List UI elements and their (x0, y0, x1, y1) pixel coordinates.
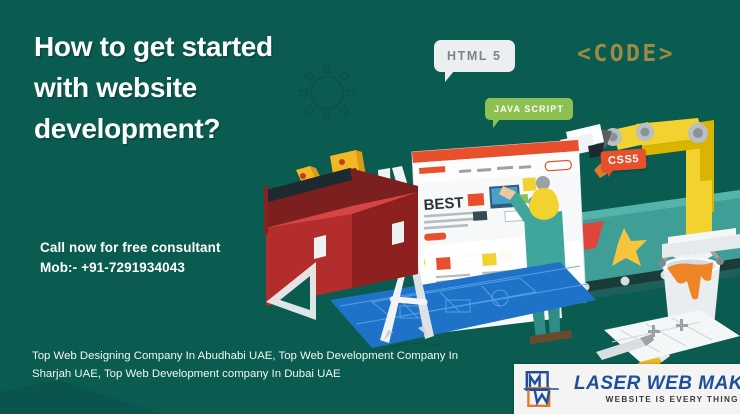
bubble-tail-icon (608, 170, 614, 177)
badge-javascript: JAVA SCRIPT (485, 98, 573, 120)
svg-text:BEST: BEST (423, 194, 464, 214)
badge-javascript-label: JAVA SCRIPT (485, 98, 573, 120)
badge-html5: HTML 5 (434, 40, 515, 72)
badge-css5-label: CSS5 (608, 153, 640, 167)
logo-title: LASER WEB MAKER (574, 374, 740, 393)
badge-html5-label: HTML 5 (434, 40, 515, 72)
promo-banner: BEST (0, 0, 740, 414)
badge-css5: CSS5 (600, 148, 646, 171)
grid-sheet (604, 310, 740, 362)
phone-number[interactable]: Mob:- +91-7291934043 (40, 258, 221, 278)
bubble-tail-icon (493, 119, 500, 128)
toolbox (264, 150, 418, 306)
logo-text: LASER WEB MAKER WEBSITE IS EVERY THING (574, 374, 740, 404)
call-to-action-text: Call now for free consultant (40, 238, 221, 258)
headline-line-1: How to get started (34, 26, 374, 67)
headline-line-2: with website (34, 67, 374, 108)
laser-web-maker-logo-icon (522, 369, 570, 409)
logo-subtitle: WEBSITE IS EVERY THING (574, 396, 740, 404)
page-title: How to get started with website developm… (34, 26, 374, 149)
code-text: <CODE> (577, 41, 675, 67)
footer-tagline: Top Web Designing Company In Abudhabi UA… (32, 347, 462, 384)
bubble-tail-icon (445, 71, 454, 82)
headline-line-3: development? (34, 108, 374, 149)
contact-block: Call now for free consultant Mob:- +91-7… (40, 238, 221, 277)
logo-panel[interactable]: LASER WEB MAKER WEBSITE IS EVERY THING (514, 364, 740, 414)
